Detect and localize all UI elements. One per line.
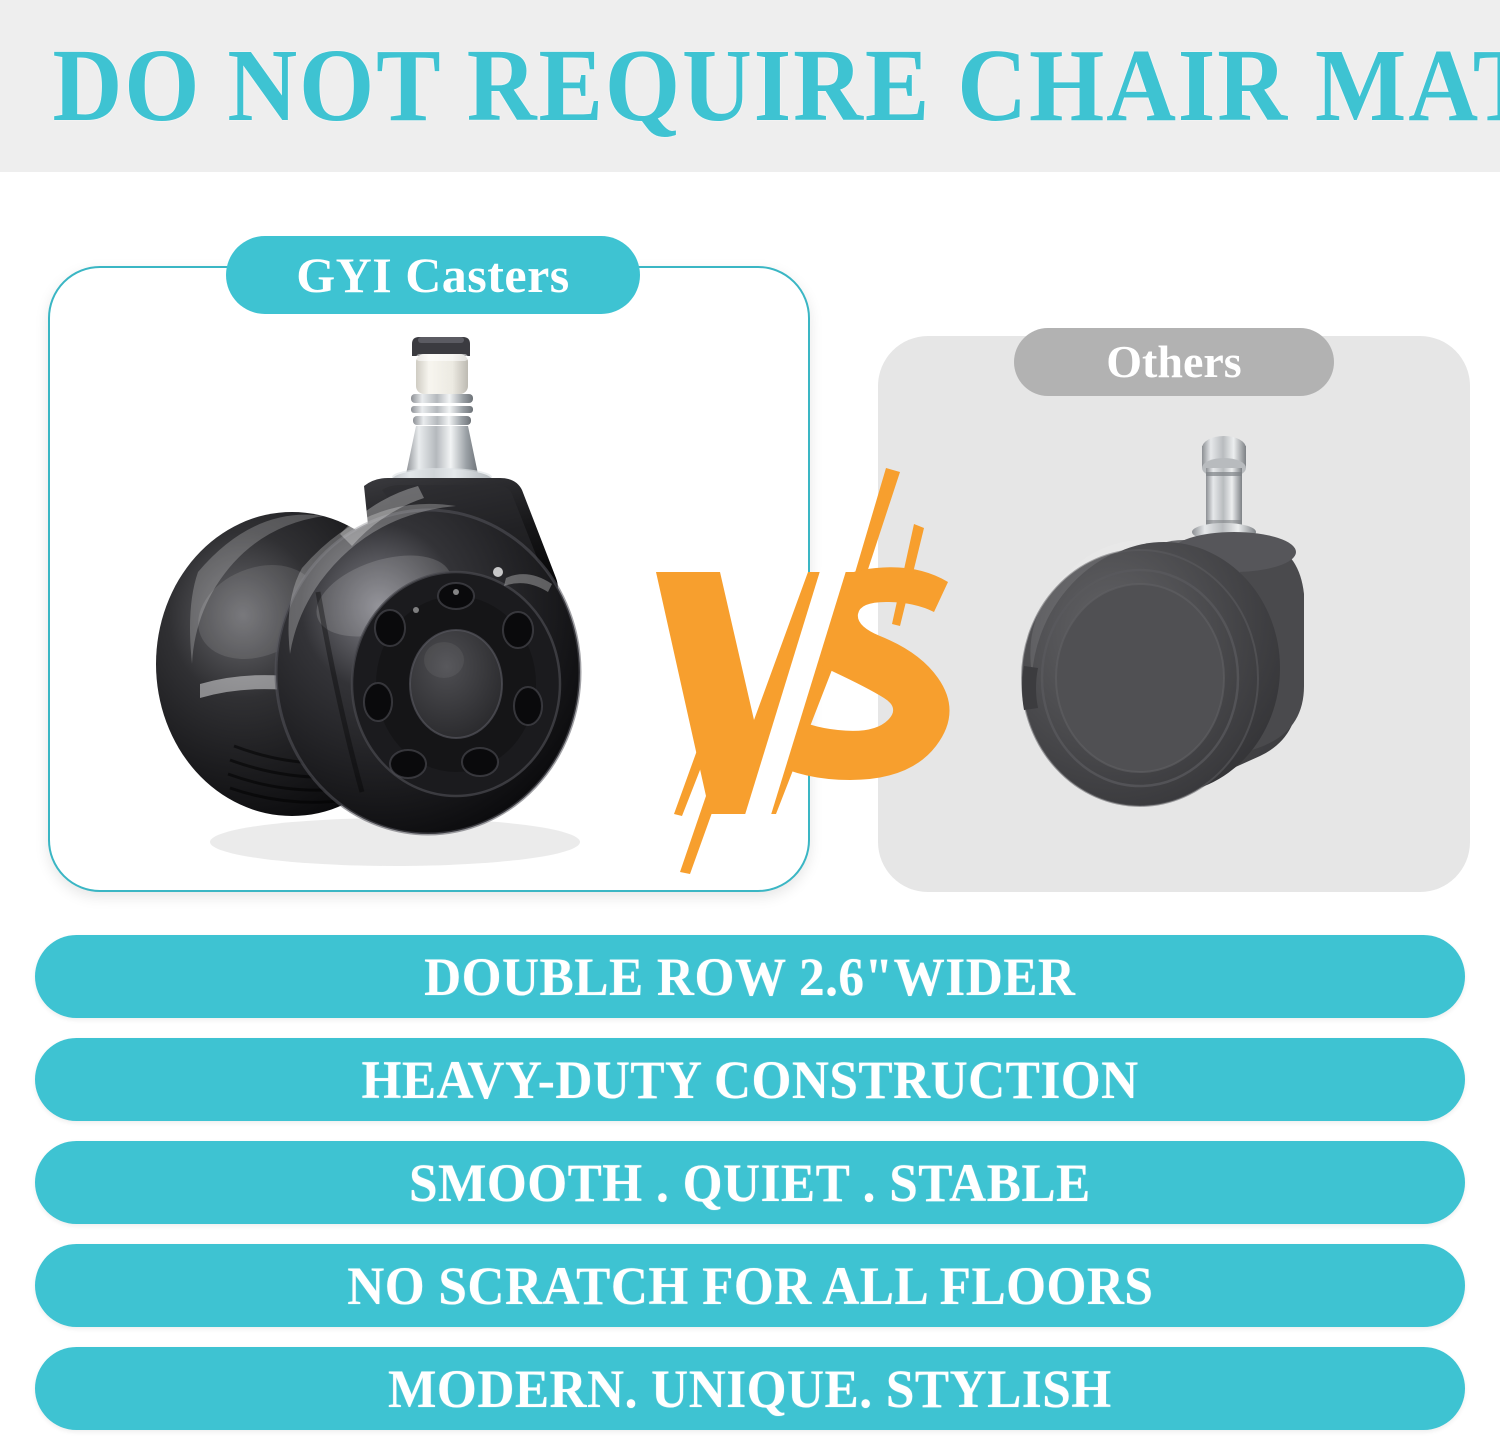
feature-label: HEAVY-DUTY CONSTRUCTION [361,1051,1138,1109]
gyi-caster-image [150,334,620,874]
feature-label: NO SCRATCH FOR ALL FLOORS [347,1257,1153,1315]
feature-bar[interactable]: DOUBLE ROW 2.6"WIDER [35,935,1465,1018]
feature-bar[interactable]: MODERN. UNIQUE. STYLISH [35,1347,1465,1430]
feature-bar[interactable]: SMOOTH . QUIET . STABLE [35,1141,1465,1224]
infographic-page: DO NOT REQUIRE CHAIR MATS GYI Casters [0,0,1500,1448]
gyi-label-pill: GYI Casters [226,236,640,314]
others-label-pill: Others [1014,328,1334,396]
comparison-section: GYI Casters [0,172,1500,932]
gyi-label-text: GYI Casters [296,249,570,301]
feature-label: SMOOTH . QUIET . STABLE [409,1154,1091,1212]
feature-bar[interactable]: HEAVY-DUTY CONSTRUCTION [35,1038,1465,1121]
feature-label: DOUBLE ROW 2.6"WIDER [424,948,1075,1006]
others-caster-image [988,410,1368,840]
others-label-text: Others [1106,338,1241,386]
feature-label: MODERN. UNIQUE. STYLISH [388,1360,1112,1418]
feature-bar[interactable]: NO SCRATCH FOR ALL FLOORS [35,1244,1465,1327]
feature-list: DOUBLE ROW 2.6"WIDER HEAVY-DUTY CONSTRUC… [0,932,1500,1448]
page-title: DO NOT REQUIRE CHAIR MATS [53,30,1448,142]
header-band: DO NOT REQUIRE CHAIR MATS [0,0,1500,172]
